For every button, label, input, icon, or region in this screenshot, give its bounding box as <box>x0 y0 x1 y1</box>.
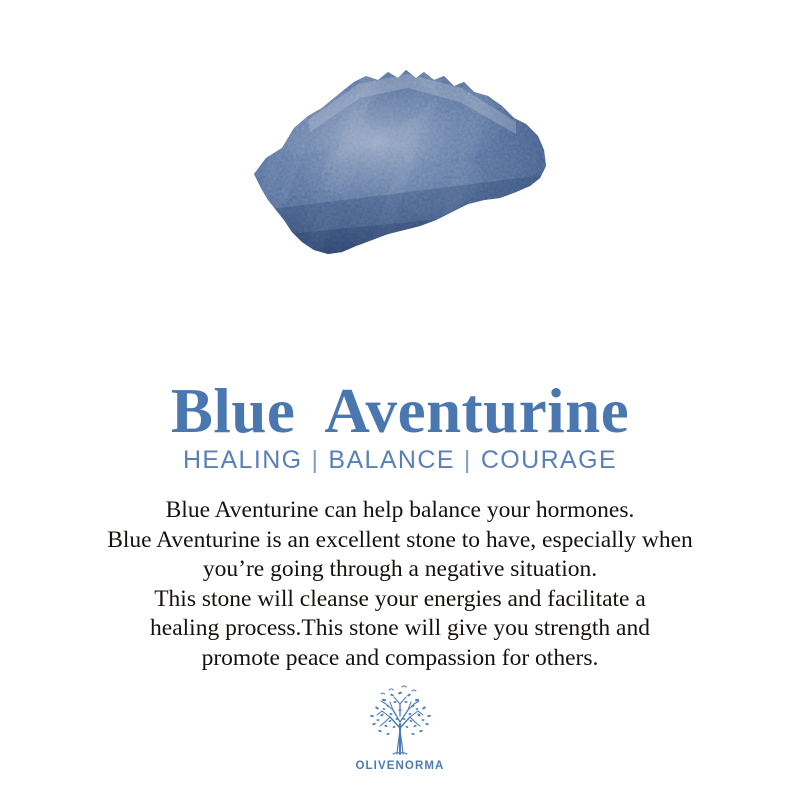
olive-tree-icon <box>364 684 436 758</box>
blue-aventurine-stone-illustration <box>248 62 552 262</box>
brand-logo: OLIVENORMA <box>0 684 800 772</box>
keyword-courage: COURAGE <box>481 446 617 474</box>
keyword-healing: HEALING <box>183 446 303 474</box>
keyword-separator-2: | <box>455 445 481 475</box>
page-title: Blue Aventurine <box>0 376 800 446</box>
keyword-list: HEALING|BALANCE|COURAGE <box>0 445 800 475</box>
description-line: promote peace and compassion for others. <box>20 644 780 674</box>
description-line: Blue Aventurine is an excellent stone to… <box>20 526 780 556</box>
description-line: you’re going through a negative situatio… <box>20 555 780 585</box>
stone-body <box>248 62 552 262</box>
description-line: This stone will cleanse your energies an… <box>20 585 780 615</box>
stone-image <box>248 62 552 262</box>
description-line: Blue Aventurine can help balance your ho… <box>20 496 780 526</box>
brand-wordmark: OLIVENORMA <box>356 760 445 772</box>
description-line: healing process.This stone will give you… <box>20 614 780 644</box>
stone-info-card: Blue Aventurine HEALING|BALANCE|COURAGE … <box>0 0 800 800</box>
keyword-separator-1: | <box>303 445 329 475</box>
description-text: Blue Aventurine can help balance your ho… <box>20 496 780 673</box>
keyword-balance: BALANCE <box>328 446 455 474</box>
